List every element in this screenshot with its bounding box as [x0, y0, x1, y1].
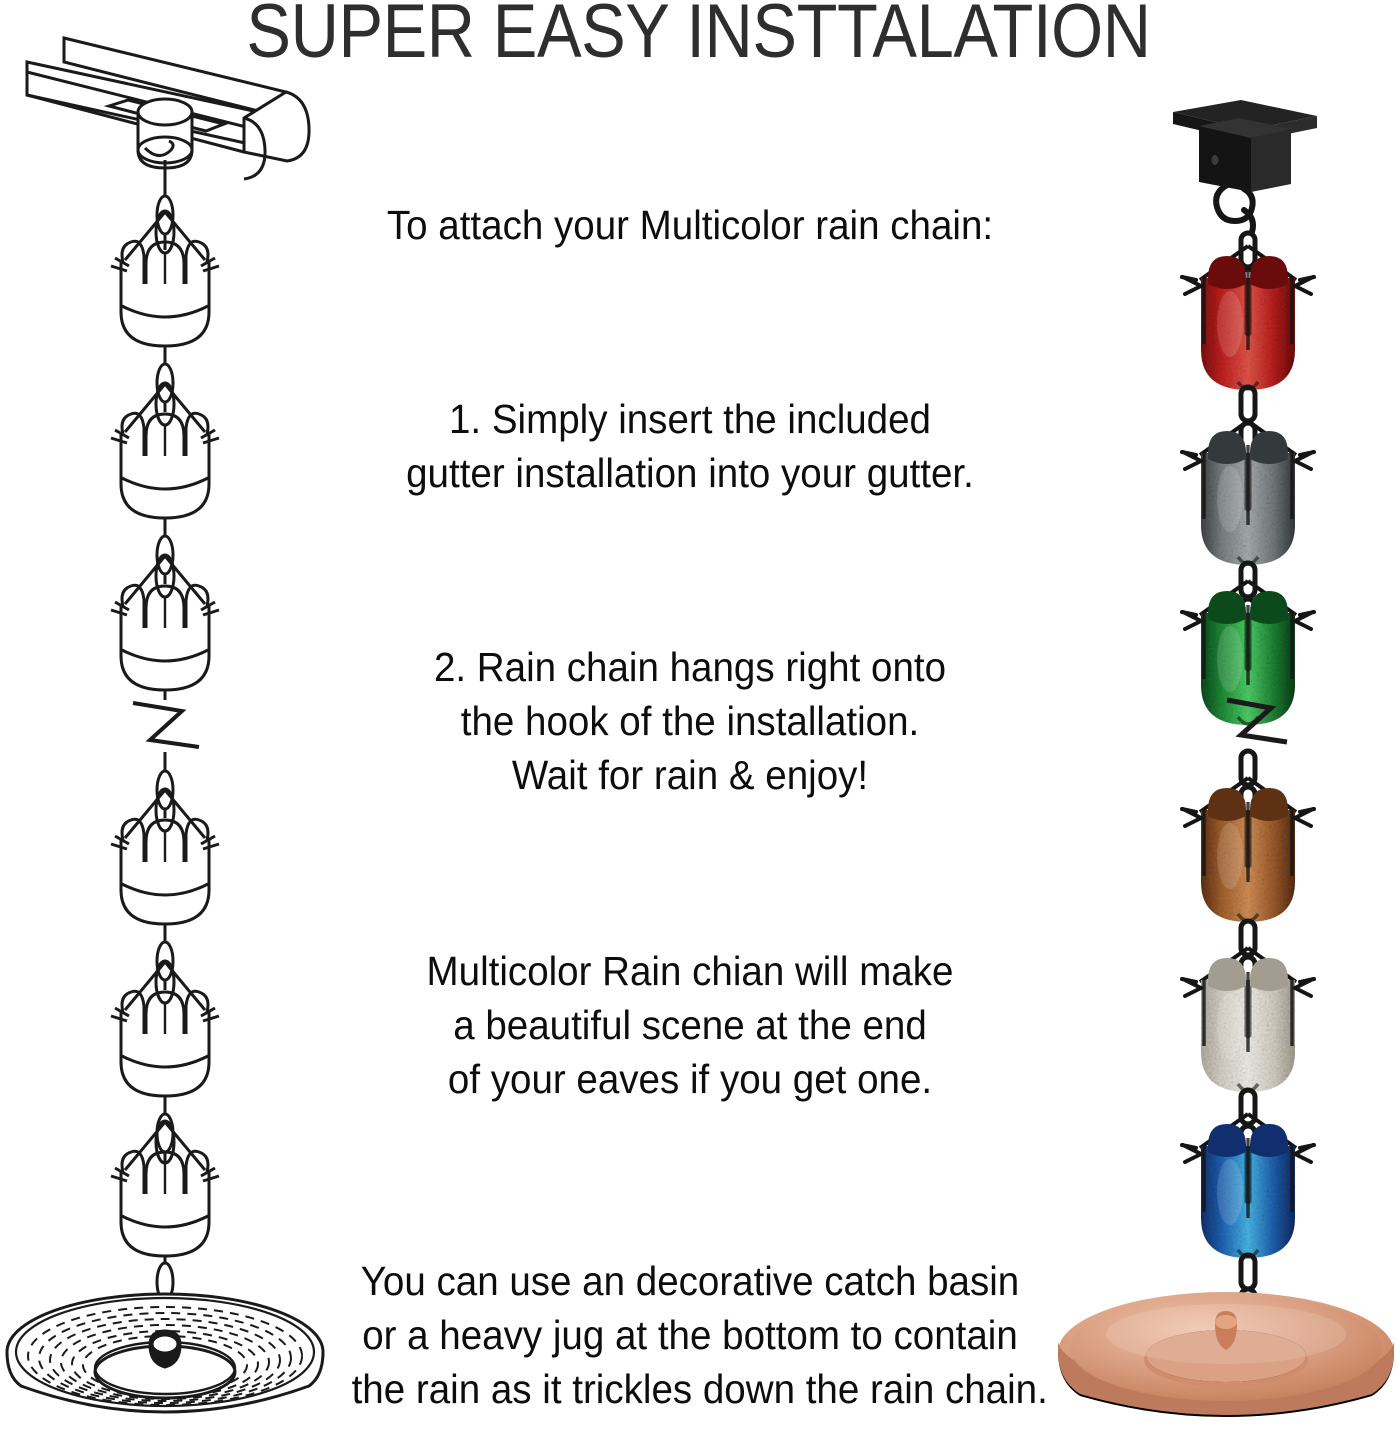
- basin-line-3: the rain as it trickles down the rain ch…: [352, 1362, 1029, 1416]
- instruction-text-column: To attach your Multicolor rain chain: 1.…: [330, 0, 1050, 1437]
- step-1-paragraph: 1. Simply insert the included gutter ins…: [352, 392, 1029, 500]
- step-2-paragraph: 2. Rain chain hangs right onto the hook …: [352, 640, 1029, 802]
- product-photo-column: [1055, 0, 1397, 1437]
- basin-line-2: or a heavy jug at the bottom to contain: [352, 1308, 1029, 1362]
- copper-cup: [1182, 778, 1314, 922]
- chain-segment-1: [157, 346, 173, 412]
- step-2-line-1: 2. Rain chain hangs right onto: [352, 640, 1029, 694]
- installation-line-diagram: [0, 0, 330, 1437]
- basin-line-1: You can use an decorative catch basin: [352, 1254, 1029, 1308]
- scene-paragraph: Multicolor Rain chian will make a beauti…: [352, 944, 1029, 1106]
- chain-break-symbol: [133, 690, 199, 818]
- white-cup: [1182, 948, 1314, 1092]
- step-2-line-3: Wait for rain & enjoy!: [352, 748, 1029, 802]
- blue-cup: [1182, 1114, 1314, 1258]
- gutter-installer-cylinder: [138, 99, 192, 168]
- product-svg: [1055, 0, 1397, 1437]
- copper-catch-basin: [1058, 1292, 1394, 1417]
- gray-cup: [1182, 421, 1314, 565]
- infographic-page: SUPER EASY INSTTALATION: [0, 0, 1397, 1437]
- s-hook: [1216, 185, 1253, 232]
- flower-cup-1: [111, 211, 219, 346]
- intro-line-1: To attach your Multicolor rain chain:: [352, 198, 1029, 252]
- scene-line-2: a beautiful scene at the end: [352, 998, 1029, 1052]
- intro-paragraph: To attach your Multicolor rain chain:: [352, 198, 1029, 252]
- chain-segment-2: [157, 518, 173, 584]
- hanging-chain-top: [157, 160, 173, 250]
- line-art-svg: [0, 0, 330, 1437]
- step-1-line-2: gutter installation into your gutter.: [352, 446, 1029, 500]
- flower-cup-6: [111, 1121, 219, 1256]
- scene-line-1: Multicolor Rain chian will make: [352, 944, 1029, 998]
- basin-paragraph: You can use an decorative catch basin or…: [352, 1254, 1029, 1416]
- chain-segment-3: [157, 924, 173, 990]
- catch-basin-lineart: [7, 1294, 323, 1412]
- step-2-line-2: the hook of the installation.: [352, 694, 1029, 748]
- step-1-line-1: 1. Simply insert the included: [352, 392, 1029, 446]
- scene-line-3: of your eaves if you get one.: [352, 1052, 1029, 1106]
- gutter-installer-bracket: [1173, 100, 1317, 192]
